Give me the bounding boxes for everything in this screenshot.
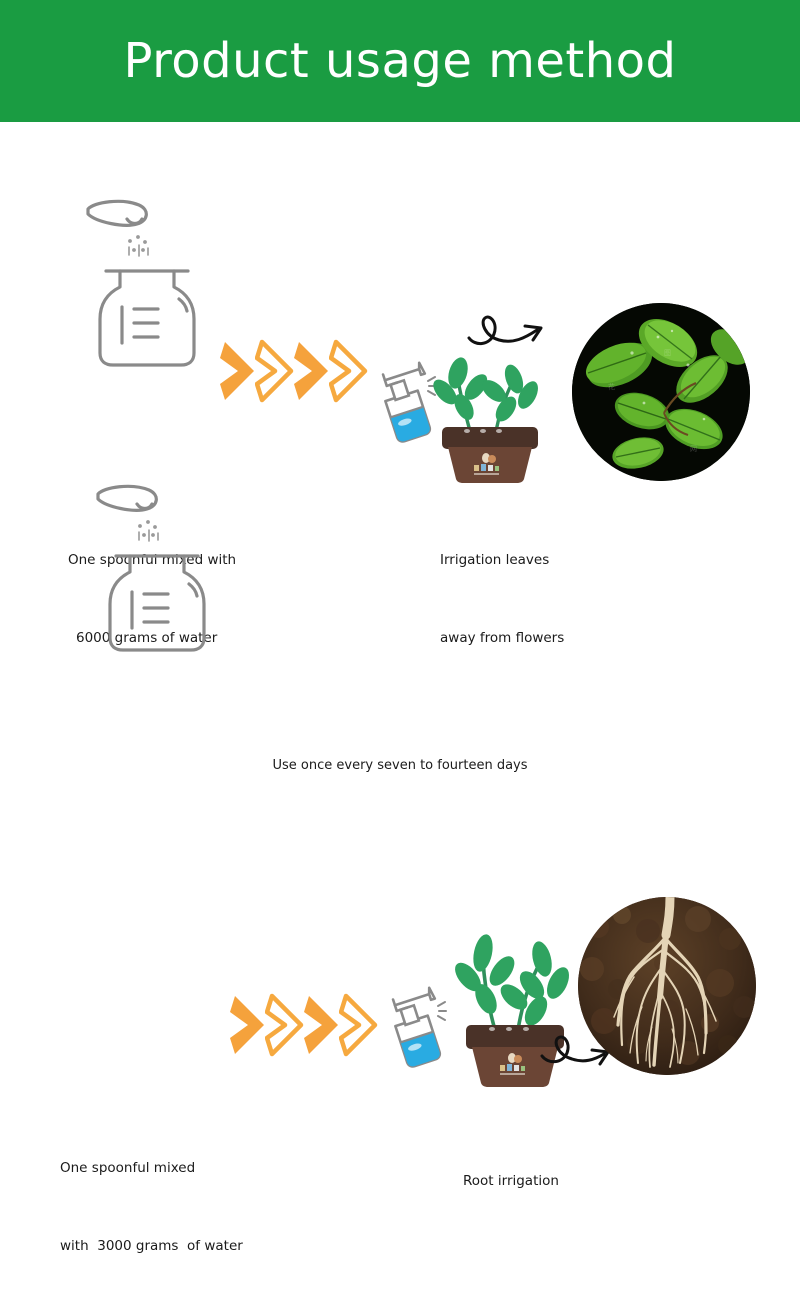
chevron-outline-icon: [329, 336, 371, 406]
bottle-with-spoon-icon: [82, 195, 212, 375]
caption-usage-row2: Root irrigation: [463, 1116, 559, 1246]
bottle-with-spoon-icon: [92, 480, 222, 660]
caption-line: with 3000 grams of water: [60, 1233, 243, 1259]
svg-text:图: 图: [664, 349, 671, 357]
caption-line: Root irrigation: [463, 1168, 559, 1194]
footer-frequency-note: Use once every seven to fourteen days: [0, 758, 800, 773]
caption-line: One spoonful mixed: [60, 1155, 243, 1181]
chevron-filled-icon: [218, 336, 260, 406]
chevron-outline-icon: [265, 990, 307, 1060]
usage-step-row-root-irrigation: One spoonful mixed with 3000 grams of wa…: [0, 440, 800, 730]
usage-step-row-leaf-irrigation: 图 花 网 One spoonful mixed with 6000 grams…: [0, 140, 800, 430]
svg-text:花: 花: [608, 382, 615, 391]
chevron-filled-icon: [302, 990, 344, 1060]
chevron-filled-icon: [228, 990, 270, 1060]
curved-loop-arrow-icon: [463, 306, 563, 363]
chevron-filled-icon: [292, 336, 334, 406]
page-title: Product usage method: [124, 37, 677, 85]
roots-in-soil-photo: [578, 897, 756, 1075]
page-header: Product usage method: [0, 0, 800, 122]
chevron-arrows-icon: [218, 336, 371, 406]
caption-dosage-row2: One spoonful mixed with 3000 grams of wa…: [60, 1103, 243, 1311]
chevron-outline-icon: [255, 336, 297, 406]
chevron-outline-icon: [339, 990, 381, 1060]
spray-bottle-icon: [382, 980, 448, 1075]
chevron-arrows-icon: [228, 990, 381, 1060]
